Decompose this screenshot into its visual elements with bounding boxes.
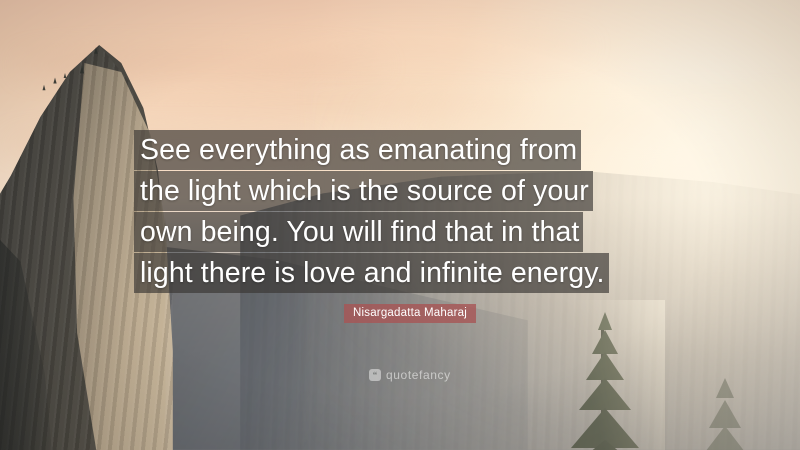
quotefancy-watermark: “ quotefancy: [369, 368, 451, 382]
pine-branch: [598, 312, 612, 330]
quote-line-2: the light which is the source of your: [134, 171, 593, 211]
ridgeline-tree: [43, 85, 46, 91]
ridgeline-tree: [80, 66, 84, 74]
quote-poster: See everything as emanating from the lig…: [0, 0, 800, 450]
quotefancy-logo-icon: “: [369, 369, 381, 381]
pine-branch: [702, 426, 748, 450]
ridgeline-tree: [53, 77, 56, 83]
pine-branch: [709, 400, 741, 428]
pine-branch: [716, 378, 734, 398]
secondary-pine-tree: [690, 372, 760, 450]
quote-text-block: See everything as emanating from the lig…: [134, 130, 670, 294]
pine-branch: [586, 352, 624, 380]
foreground-pine-tree: [545, 300, 665, 450]
watermark-label: quotefancy: [386, 368, 451, 382]
ridgeline-tree: [64, 73, 67, 78]
pine-branch: [563, 440, 647, 450]
quote-line-4: light there is love and infinite energy.: [134, 253, 609, 293]
quote-line-1: See everything as emanating from: [134, 130, 581, 170]
pine-branch: [579, 378, 631, 410]
pine-branch: [592, 330, 618, 354]
ridgeline-tree: [94, 47, 97, 53]
author-attribution-badge: Nisargadatta Maharaj: [344, 304, 476, 323]
quote-line-3: own being. You will find that in that: [134, 212, 583, 252]
